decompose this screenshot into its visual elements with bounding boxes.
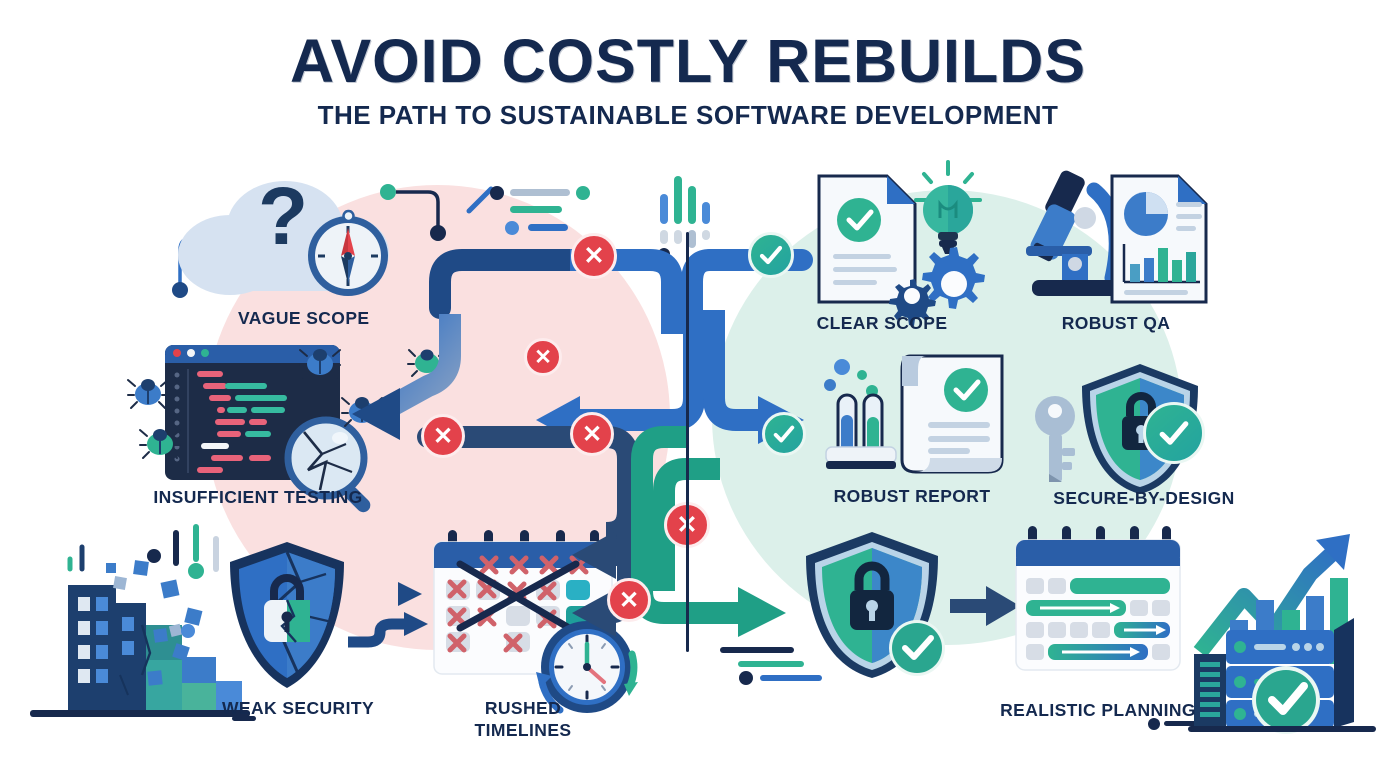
pass-marker-check-2 — [762, 412, 806, 456]
chart-report-icon — [1108, 172, 1212, 306]
fail-marker-x-4: ✕ — [570, 412, 614, 456]
center-divider — [686, 232, 689, 652]
check-icon — [758, 242, 784, 268]
key-icon — [1030, 392, 1082, 486]
check-icon — [1157, 416, 1191, 450]
transition-arrow-right — [946, 578, 1022, 636]
label-robust-report: ROBUST REPORT — [828, 486, 996, 507]
label-rushed-timelines-line1: RUSHED — [485, 698, 561, 718]
calendar-gantt-icon — [1012, 524, 1184, 694]
scroll-check-icon — [896, 348, 1014, 484]
fail-marker-x-2: ✕ — [524, 338, 562, 376]
compass-icon — [303, 208, 393, 300]
label-rushed-timelines: RUSHED TIMELINES — [438, 698, 608, 742]
server-growth-icon — [1188, 524, 1376, 729]
bug-icon — [128, 374, 168, 410]
label-rushed-timelines-line2: TIMELINES — [475, 720, 572, 740]
label-realistic-planning: REALISTIC PLANNING — [1000, 700, 1196, 721]
page-subtitle: THE PATH TO SUSTAINABLE SOFTWARE DEVELOP… — [0, 100, 1376, 131]
crumbling-building-icon — [30, 525, 250, 720]
check-icon — [772, 422, 796, 446]
page-title: AVOID COSTLY REBUILDS — [0, 26, 1376, 96]
svg-text:?: ? — [258, 171, 308, 262]
check-badge-icon — [1143, 402, 1205, 464]
gears-icon — [888, 240, 998, 320]
label-weak-security: WEAK SECURITY — [222, 698, 372, 719]
label-robust-qa: ROBUST QA — [1046, 313, 1186, 334]
fail-marker-x-3: ✕ — [421, 414, 465, 458]
cracked-shield-lock-icon — [222, 538, 352, 693]
label-secure-by-design: SECURE-BY-DESIGN — [1044, 488, 1244, 509]
shield-lock-check-icon — [800, 528, 960, 688]
pass-marker-check-1 — [748, 232, 794, 278]
fail-marker-x-6: ✕ — [607, 578, 651, 622]
label-clear-scope: CLEAR SCOPE — [808, 313, 956, 334]
fail-marker-x-1: ✕ — [571, 233, 617, 279]
bug-icon — [140, 424, 180, 460]
infographic-canvas: AVOID COSTLY REBUILDS THE PATH TO SUSTAI… — [0, 0, 1376, 768]
